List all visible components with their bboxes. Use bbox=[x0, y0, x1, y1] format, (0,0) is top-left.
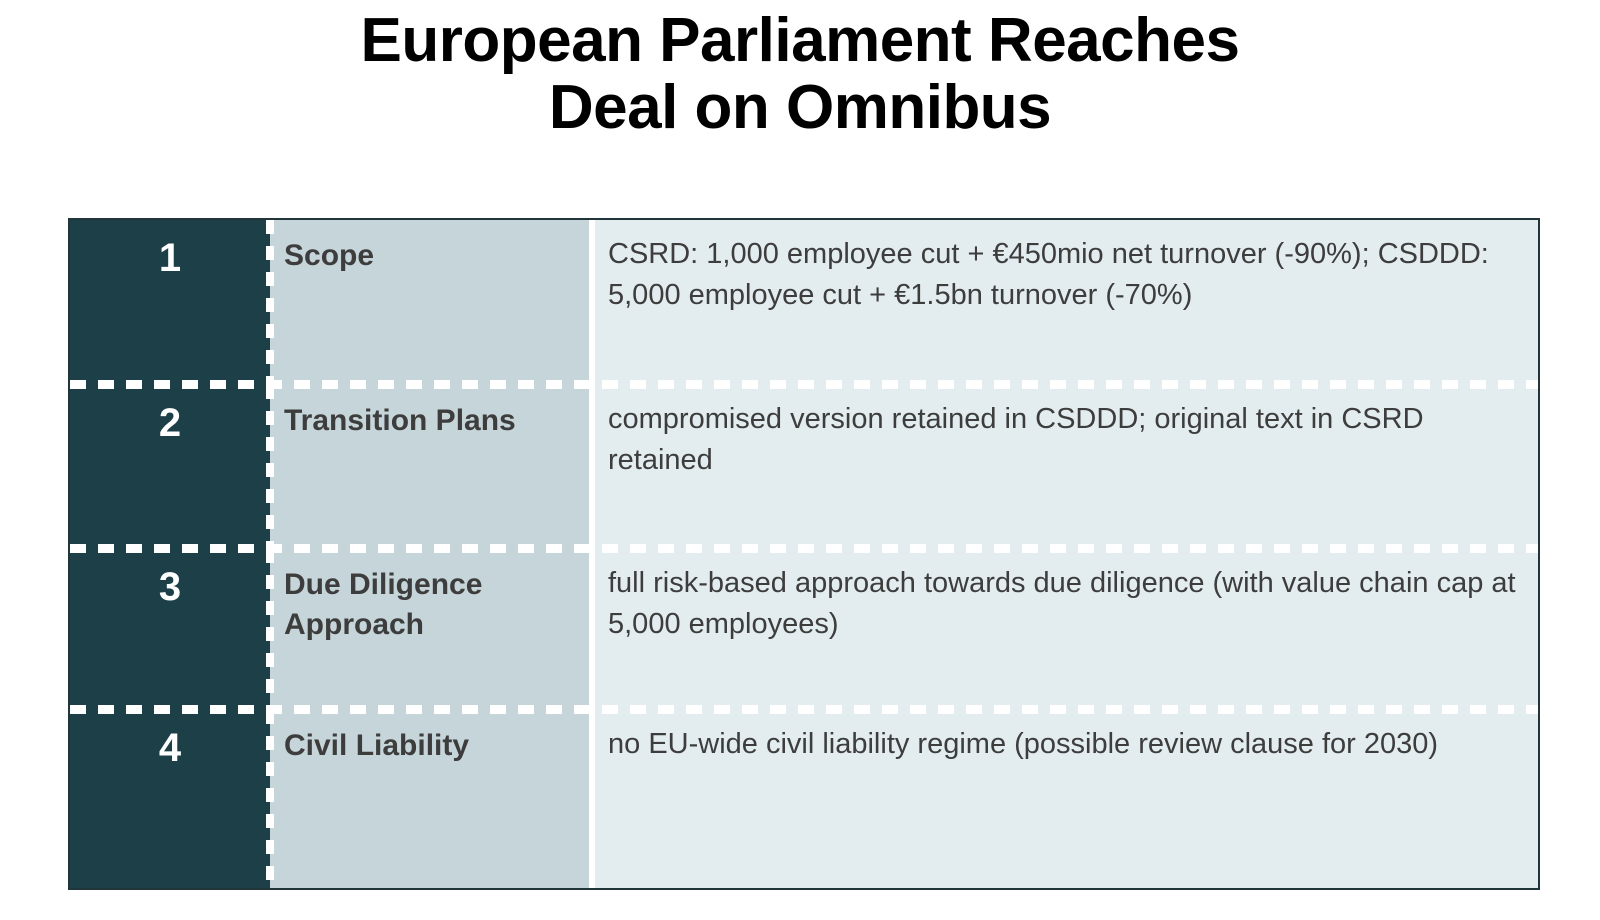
row-label: Civil Liability bbox=[284, 729, 469, 762]
row-number: 2 bbox=[159, 401, 181, 446]
row-number: 4 bbox=[159, 726, 181, 771]
table-row: 4 Civil Liability no EU-wide civil liabi… bbox=[70, 710, 1538, 888]
row-label-cell: Due Diligence Approach bbox=[270, 549, 592, 710]
row-number-cell: 2 bbox=[70, 385, 270, 549]
row-description-cell: no EU-wide civil liability regime (possi… bbox=[592, 710, 1538, 888]
row-number: 1 bbox=[159, 236, 181, 281]
summary-table: 1 Scope CSRD: 1,000 employee cut + €450m… bbox=[68, 218, 1540, 890]
row-description-cell: full risk-based approach towards due dil… bbox=[592, 549, 1538, 710]
row-number-cell: 1 bbox=[70, 220, 270, 385]
row-description-cell: CSRD: 1,000 employee cut + €450mio net t… bbox=[592, 220, 1538, 385]
row-number: 3 bbox=[159, 565, 181, 610]
row-description-cell: compromised version retained in CSDDD; o… bbox=[592, 385, 1538, 549]
slide-root: European Parliament Reaches Deal on Omni… bbox=[0, 0, 1600, 920]
row-number-cell: 3 bbox=[70, 549, 270, 710]
row-label: Scope bbox=[284, 239, 374, 272]
row-label-cell: Scope bbox=[270, 220, 592, 385]
page-title-line-2: Deal on Omnibus bbox=[0, 75, 1600, 142]
row-label-cell: Civil Liability bbox=[270, 710, 592, 888]
row-description: full risk-based approach towards due dil… bbox=[608, 567, 1516, 640]
table-row: 2 Transition Plans compromised version r… bbox=[70, 385, 1538, 549]
row-label-cell: Transition Plans bbox=[270, 385, 592, 549]
row-label: Due Diligence Approach bbox=[284, 568, 482, 641]
row-label: Transition Plans bbox=[284, 404, 516, 437]
page-title-line-1: European Parliament Reaches bbox=[0, 8, 1600, 75]
table-row: 3 Due Diligence Approach full risk-based… bbox=[70, 549, 1538, 710]
row-description: no EU-wide civil liability regime (possi… bbox=[608, 728, 1438, 760]
table-row: 1 Scope CSRD: 1,000 employee cut + €450m… bbox=[70, 220, 1538, 385]
page-title: European Parliament Reaches Deal on Omni… bbox=[0, 8, 1600, 142]
row-number-cell: 4 bbox=[70, 710, 270, 888]
row-description: CSRD: 1,000 employee cut + €450mio net t… bbox=[608, 238, 1489, 311]
row-description: compromised version retained in CSDDD; o… bbox=[608, 403, 1424, 476]
